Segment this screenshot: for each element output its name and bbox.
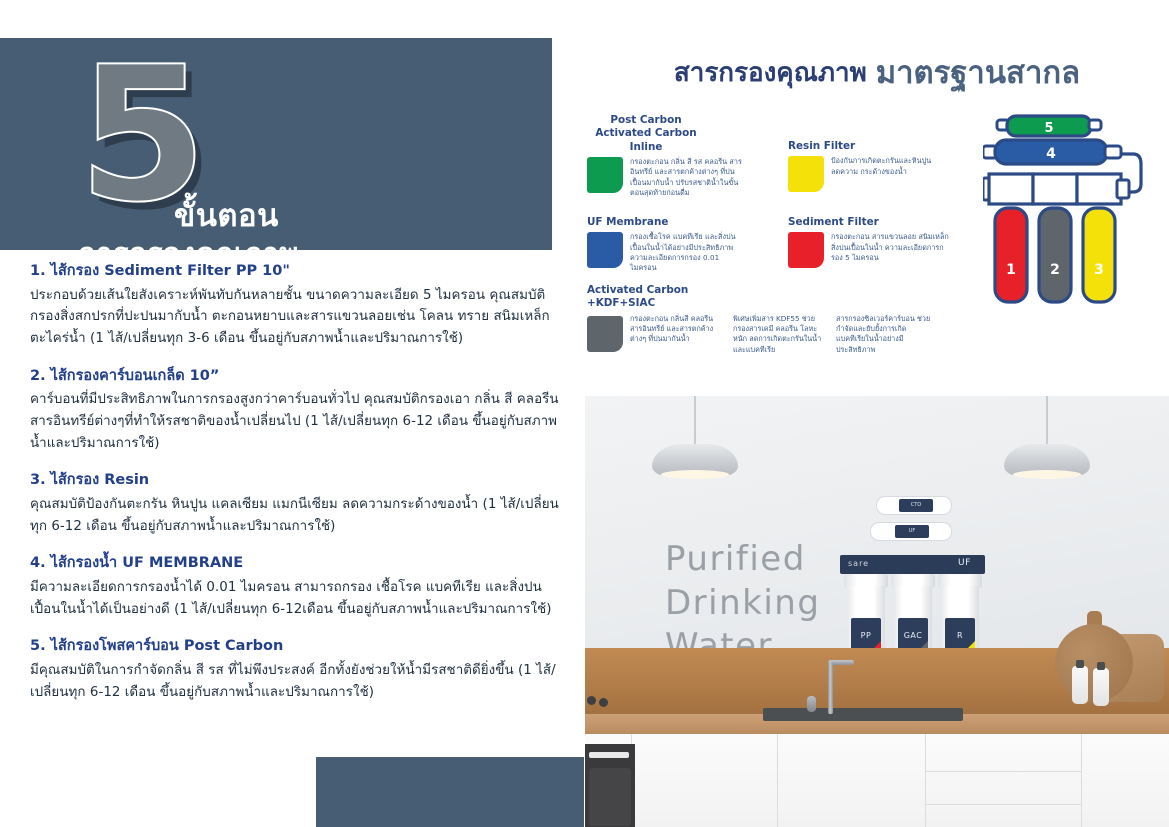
photo-caption-line: Drinking (665, 582, 820, 626)
diagram-svg: 5 4 1 2 3 (983, 112, 1163, 312)
legend-swatch-resin (788, 156, 824, 192)
legend-description: กรองเชื้อโรค แบคทีเรีย และสิ่งปนเปื้อนใน… (630, 232, 748, 273)
svg-text:1: 1 (1006, 262, 1016, 278)
bottle-cap (1097, 662, 1105, 670)
purifier-canister-label-gac: GAC (898, 618, 928, 652)
step-title: 2. ไส้กรองคาร์บอนเกล็ด 10” (30, 367, 560, 387)
legend-title: Sediment Filter (788, 216, 988, 229)
diagram-stage-5: 5 (997, 116, 1101, 136)
purifier-top-cartridge-cto: CTO (876, 496, 952, 515)
faucet-body (828, 662, 833, 714)
pendant-lamp-cord (694, 396, 696, 446)
step-item: 1. ไส้กรอง Sediment Filter PP 10" ประกอบ… (30, 262, 560, 350)
step-item: 2. ไส้กรองคาร์บอนเกล็ด 10” คาร์บอนที่มีป… (30, 367, 560, 455)
legend-title: Resin Filter (788, 140, 983, 153)
legend-swatch-activated-carbon (587, 316, 623, 352)
diagram-stage-4: 4 (983, 140, 1121, 164)
diagram-stage-1: 1 (995, 208, 1027, 302)
legend-item-resin-filter: Resin Filter ป้องกันการเกิดตะกรันและหินป… (788, 140, 983, 192)
step-body: มีความละเอียดการกรองน้ำได้ 0.01 ไมครอน ส… (30, 577, 560, 620)
page-title: สารกรองคุณภาพ มาตรฐานสากล (585, 46, 1169, 98)
purifier-top-cartridge-label: CTO (899, 502, 933, 508)
page-title-part1: สารกรองคุณภาพ (674, 52, 867, 93)
step-body: คาร์บอนที่มีประสิทธิภาพในการกรองสูงกว่าค… (30, 389, 560, 454)
legend-description: กรองตะกอน กลิ่น สี รส คลอรีน สารอินทรีย์… (630, 157, 748, 198)
bottle (1093, 668, 1109, 706)
pendant-lamp-glow (1013, 470, 1081, 479)
bottom-accent-block (316, 757, 584, 827)
photo-caption-line: Purified (665, 538, 820, 582)
faucet-lever (807, 696, 816, 712)
hero-banner: 5 ขั้นตอน การกรองคุณภาพ (0, 38, 552, 250)
legend-swatch-sediment (788, 232, 824, 268)
legend-swatch-uf (587, 232, 623, 268)
purifier-top-cartridge-uf: UF (870, 522, 952, 541)
drawer-seam (925, 771, 1081, 772)
purifier-canister-label-r: R (945, 618, 975, 652)
step-body: ประกอบด้วยเส้นใยสังเคราะห์พันทับกันหลายช… (30, 285, 560, 350)
hob-knob (587, 696, 596, 705)
svg-text:5: 5 (1044, 121, 1053, 136)
diagram-manifold (983, 174, 1129, 204)
step-item: 3. ไส้กรอง Resin คุณสมบัติป้องกันตะกรัน … (30, 471, 560, 537)
svg-text:2: 2 (1050, 262, 1060, 278)
step-title: 3. ไส้กรอง Resin (30, 471, 560, 491)
filter-system-diagram: 5 4 1 2 3 (983, 112, 1163, 312)
kitchen-photo: Purified Drinking Water CTO UF sare UF P… (585, 396, 1169, 827)
photo-sink (763, 708, 963, 721)
legend-description-column: กรองตะกอน กลิ่นสี คลอรีน สารอินทรีย์ และ… (630, 314, 726, 355)
purifier-canister-label-text: PP (851, 631, 881, 640)
purifier-canister-label-pp: PP (851, 618, 881, 652)
step-item: 4. ไส้กรองน้ำ UF MEMBRANE มีความละเอียดก… (30, 554, 560, 620)
step-item: 5. ไส้กรองโพสคาร์บอน Post Carbon มีคุณสม… (30, 637, 560, 703)
purifier-brand-label: sare (848, 559, 869, 568)
pendant-lamp-cord (1046, 396, 1048, 446)
step-body: มีคุณสมบัติในการกำจัดกลิ่น สี รส ที่ไม่พ… (30, 660, 560, 703)
legend-description: ป้องกันการเกิดตะกรันและหินปูน ลดความ กระ… (831, 156, 941, 177)
cabinet-seam (925, 734, 926, 827)
cabinet-seam (1081, 734, 1082, 827)
purifier-canister-label-text: GAC (898, 631, 928, 640)
legend-description: กรองตะกอน สารแขวนลอย สนิมเหล็ก สิ่งปนเปื… (831, 232, 953, 263)
diagram-stage-2: 2 (1039, 208, 1071, 302)
legend-item-post-carbon: Post Carbon Activated Carbon Inline กรอง… (587, 114, 787, 198)
step-title: 4. ไส้กรองน้ำ UF MEMBRANE (30, 554, 560, 574)
purifier-badge-uf: UF (958, 558, 971, 568)
step-title: 5. ไส้กรองโพสคาร์บอน Post Carbon (30, 637, 560, 657)
pendant-lamp-glow (661, 470, 729, 479)
purifier-canister-label-text: R (945, 631, 975, 640)
legend-swatch-post-carbon (587, 157, 623, 193)
legend-title: UF Membrane (587, 216, 787, 229)
cabinet-seam (777, 734, 778, 827)
page-title-part2: มาตรฐานสากล (876, 47, 1080, 97)
oven-handle (589, 752, 629, 758)
legend-description-column: สารกรองซิลเวอร์คาร์บอน ช่วยกำจัดและยับยั… (836, 314, 932, 355)
legend-item-uf-membrane: UF Membrane กรองเชื้อโรค แบคทีเรีย และสิ… (587, 216, 787, 274)
oven-door (589, 768, 631, 826)
purifier-top-cartridge-label: UF (895, 528, 929, 534)
bottle (1072, 666, 1088, 704)
filtration-steps-list: 1. ไส้กรอง Sediment Filter PP 10" ประกอบ… (30, 262, 560, 720)
legend-item-activated-carbon: Activated Carbon +KDF+SIAC กรองตะกอน กลิ… (587, 284, 1007, 355)
svg-text:3: 3 (1094, 262, 1104, 278)
legend-item-sediment-filter: Sediment Filter กรองตะกอน สารแขวนลอย สนิ… (788, 216, 988, 268)
photo-hob (585, 696, 629, 708)
drawer-seam (925, 804, 1081, 805)
bottle-cap (1076, 660, 1084, 668)
svg-text:4: 4 (1046, 146, 1056, 162)
legend-title: Activated Carbon +KDF+SIAC (587, 284, 1007, 311)
step-body: คุณสมบัติป้องกันตะกรัน หินปูน แคลเซียม แ… (30, 494, 560, 537)
diagram-stage-3: 3 (1083, 208, 1115, 302)
legend-title: Post Carbon Activated Carbon Inline (587, 114, 705, 154)
step-title: 1. ไส้กรอง Sediment Filter PP 10" (30, 262, 560, 282)
legend-description-column: พิเศษเพิ่มสาร KDF55 ช่วยกรองสารเคมี คลอร… (733, 314, 829, 355)
hob-knob (599, 698, 608, 707)
